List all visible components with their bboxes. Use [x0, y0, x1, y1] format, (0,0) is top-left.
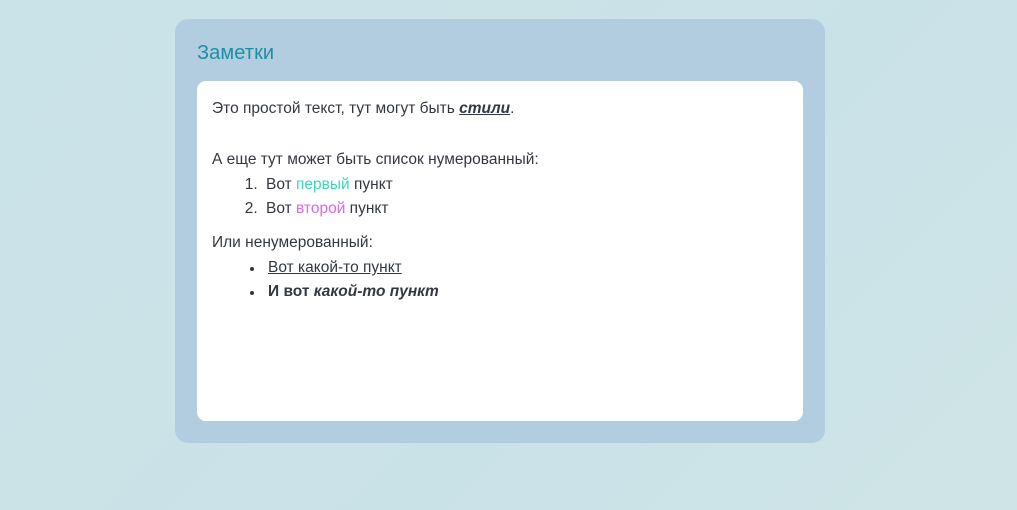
notes-editor-card[interactable]: Это простой текст, тут могут быть стили.… — [197, 81, 803, 421]
numbered-item-1-prefix: Вот — [266, 176, 296, 193]
bullet-item-2-bold-italic: какой-то пункт — [314, 283, 439, 300]
numbered-list: Вот первый пункт Вот второй пункт — [212, 173, 788, 221]
paragraph-bulleted-intro: Или ненумерованный: — [212, 231, 788, 255]
notes-document[interactable]: Это простой текст, тут могут быть стили.… — [212, 97, 788, 304]
list-item: И вот какой-то пункт — [264, 280, 788, 304]
paragraph-spacer — [212, 121, 788, 148]
paragraph-intro-prefix: Это простой текст, тут могут быть — [212, 100, 459, 117]
list-item: Вот какой-то пункт — [264, 256, 788, 280]
notes-panel: Заметки Это простой текст, тут могут быт… — [175, 19, 825, 443]
paragraph-numbered-intro: А еще тут может быть список нумерованный… — [212, 148, 788, 172]
styled-word-stili: стили — [459, 100, 510, 117]
bullet-item-1-underlined: Вот какой-то пункт — [268, 259, 402, 276]
bulleted-list: Вот какой-то пункт И вот какой-то пункт — [212, 256, 788, 304]
page-root: Заметки Это простой текст, тут могут быт… — [0, 0, 1017, 510]
list-item: Вот второй пункт — [262, 197, 788, 221]
page-title: Заметки — [197, 41, 274, 65]
numbered-item-2-suffix: пункт — [345, 200, 388, 217]
paragraph-intro: Это простой текст, тут могут быть стили. — [212, 97, 788, 121]
numbered-item-1-accent: первый — [296, 176, 350, 193]
numbered-item-2-prefix: Вот — [266, 200, 296, 217]
bullet-item-2-bold: И вот — [268, 283, 314, 300]
list-item: Вот первый пункт — [262, 173, 788, 197]
paragraph-intro-suffix: . — [510, 100, 514, 117]
numbered-item-1-suffix: пункт — [350, 176, 393, 193]
numbered-item-2-accent: второй — [296, 200, 345, 217]
